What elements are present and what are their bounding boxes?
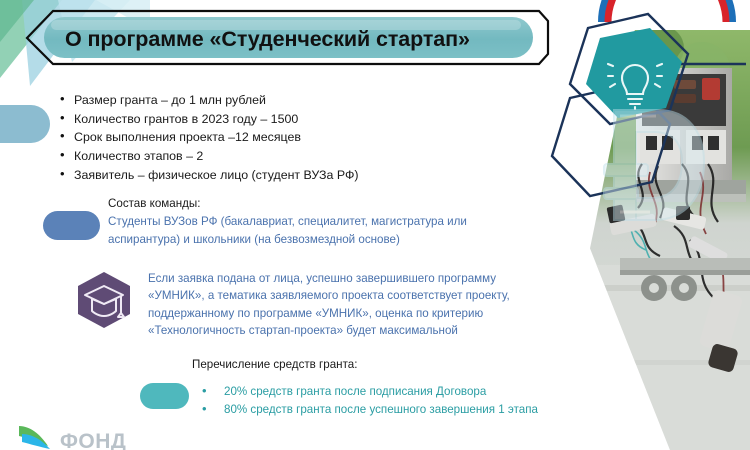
slide-content: Размер гранта – до 1 млн рублей Количест… <box>0 0 750 450</box>
team-composition-block: Состав команды: Студенты ВУЗов РФ (бакал… <box>108 196 508 248</box>
team-accent-pill <box>43 211 100 240</box>
list-item: Количество этапов – 2 <box>60 148 460 164</box>
list-item: Срок выполнения проекта –12 месяцев <box>60 129 460 145</box>
presentation-slide: ФОНД О программе «Студенческий стартап» … <box>0 0 750 450</box>
list-item: Количество грантов в 2023 году – 1500 <box>60 111 460 127</box>
list-item: 20% средств гранта после подписания Дого… <box>196 383 616 401</box>
team-heading: Состав команды: <box>108 196 508 211</box>
list-item: Заявитель – физическое лицо (студент ВУЗ… <box>60 167 460 183</box>
team-body-text: Студенты ВУЗов РФ (бакалавриат, специали… <box>108 213 508 248</box>
grant-transfer-list: 20% средств гранта после подписания Дого… <box>196 383 616 419</box>
list-item: 80% средств гранта после успешного завер… <box>196 401 616 419</box>
grant-accent-pill <box>140 383 189 409</box>
umnik-program-text: Если заявка подана от лица, успешно заве… <box>148 270 548 340</box>
key-facts-list: Размер гранта – до 1 млн рублей Количест… <box>60 92 460 185</box>
graduation-cap-icon <box>76 271 132 329</box>
list-item: Размер гранта – до 1 млн рублей <box>60 92 460 108</box>
grant-transfer-heading: Перечисление средств гранта: <box>192 357 357 372</box>
